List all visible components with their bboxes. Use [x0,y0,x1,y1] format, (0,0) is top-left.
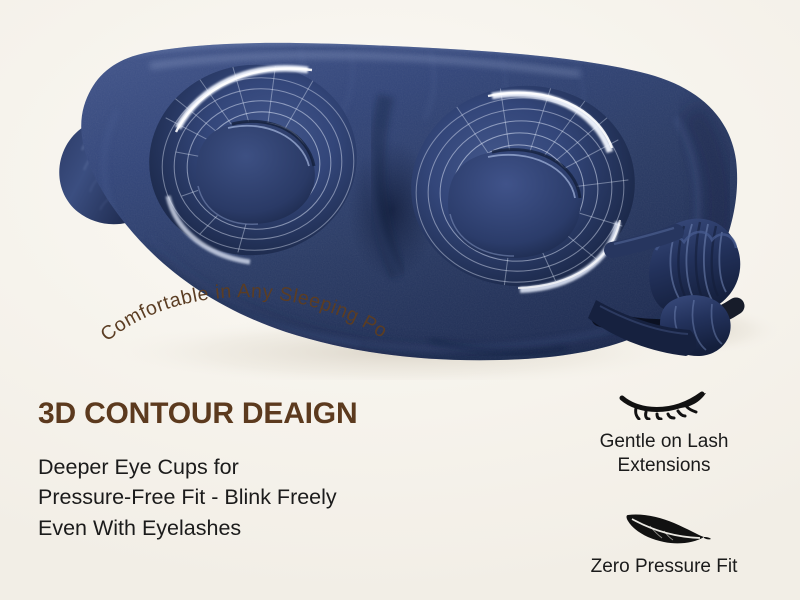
headline-block: 3D CONTOUR DEAIGN Deeper Eye Cups for Pr… [38,398,508,543]
feature-label-line-1: Zero Pressure Fit [591,555,738,579]
subcopy: Deeper Eye Cups for Pressure-Free Fit - … [38,452,508,544]
feature-gentle-on-lash: Gentle on Lash Extensions [540,386,788,477]
product-image: Comfortable in Any Sleeping Positon [0,0,800,380]
sleep-mask-illustration [0,0,800,380]
feature-label-line-1: Gentle on Lash [600,430,729,454]
page-title: 3D CONTOUR DEAIGN [38,398,508,430]
feature-label-line-2: Extensions [600,454,729,478]
feature-zero-pressure-fit: Zero Pressure Fit [540,507,788,579]
subcopy-line-2: Pressure-Free Fit - Blink Freely [38,482,508,513]
feature-label-zero-pressure-fit: Zero Pressure Fit [591,555,738,579]
feature-label-gentle-on-lash: Gentle on Lash Extensions [600,430,729,477]
feature-callouts: Gentle on Lash Extensions [540,386,788,579]
feather-icon [616,507,712,547]
eyelash-icon [616,386,712,420]
subcopy-line-3: Even With Eyelashes [38,513,508,544]
product-feature-poster: Comfortable in Any Sleeping Positon 3D C… [0,0,800,600]
subcopy-line-1: Deeper Eye Cups for [38,452,508,483]
